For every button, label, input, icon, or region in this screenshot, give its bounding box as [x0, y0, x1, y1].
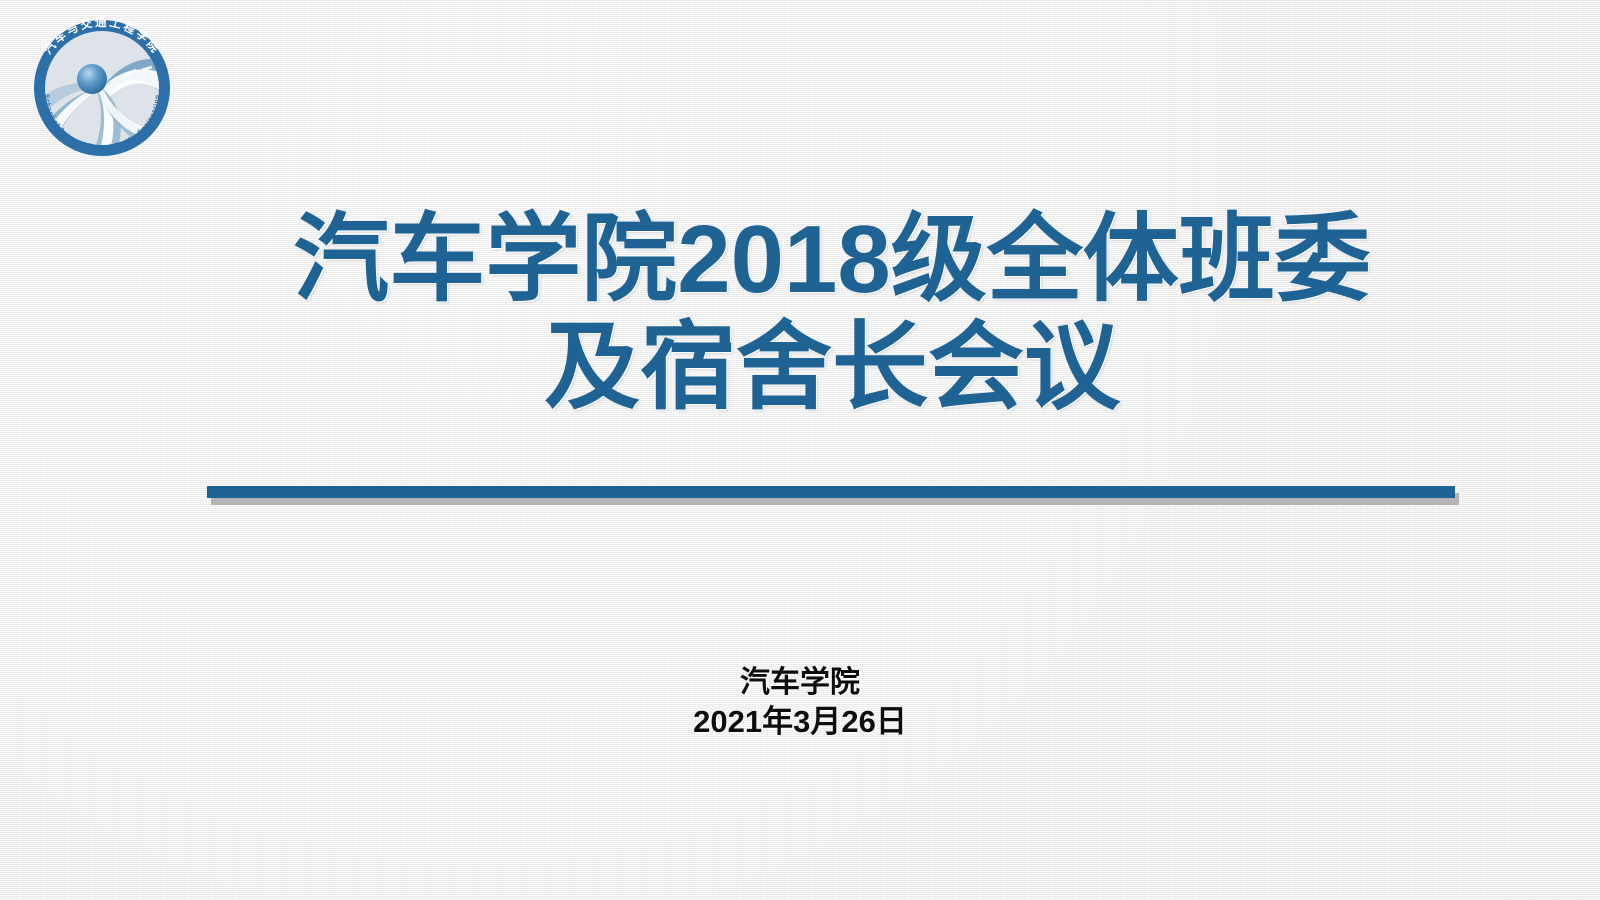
subtitle-date: 2021年3月26日	[0, 702, 1600, 742]
slide-title-line-1: 汽车学院2018级全体班委	[64, 206, 1600, 314]
title-divider-bar	[207, 486, 1455, 498]
subtitle-organization: 汽车学院	[0, 664, 1600, 702]
slide-subtitle: 汽车学院 2021年3月26日	[0, 664, 1600, 742]
logo-sphere	[77, 64, 107, 94]
slide-title: 汽车学院2018级全体班委 及宿舍长会议	[0, 206, 1600, 421]
slide-title-line-2: 及宿舍长会议	[64, 314, 1600, 422]
school-logo: 汽车与交通工程学院 School of Automobile and Traff…	[18, 8, 186, 160]
presentation-slide: 汽车与交通工程学院 School of Automobile and Traff…	[0, 0, 1600, 900]
